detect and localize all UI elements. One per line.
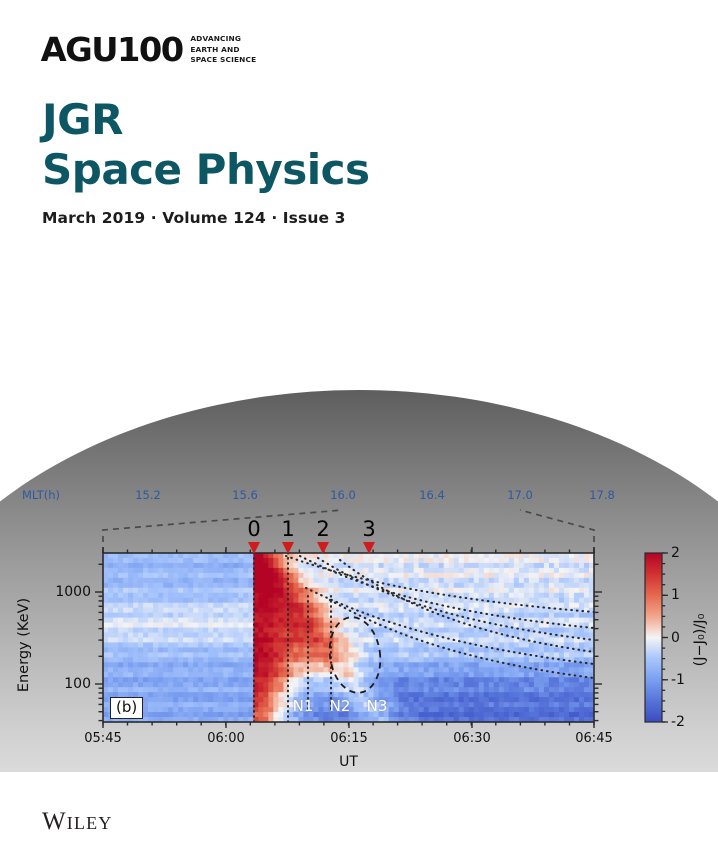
x-tick-label-1: 06:00: [207, 731, 244, 746]
event-number-2: 2: [316, 517, 329, 541]
agu-tagline-line-1: ADVANCING: [190, 34, 256, 45]
colorbar-tick-label-0: 2: [671, 545, 680, 561]
cover-art-background: [0, 382, 718, 772]
colorbar-label: (J−J₀)/J₀: [692, 614, 708, 667]
y-tick-label-0: 1000: [55, 584, 91, 600]
colorbar-tick-label-2: 0: [671, 630, 680, 646]
wiley-logo: Wiley: [42, 808, 113, 836]
event-number-0: 0: [247, 517, 260, 541]
mlt-tick-0: 15.2: [135, 488, 161, 502]
event-number-1: 1: [281, 517, 294, 541]
agu-tagline: ADVANCING EARTH AND SPACE SCIENCE: [190, 34, 256, 66]
injection-label-N1: N1: [293, 697, 314, 715]
mlt-tick-3: 16.4: [419, 488, 445, 502]
x-tick-label-2: 06:15: [330, 731, 367, 746]
colorbar-tick-label-3: -1: [671, 672, 685, 688]
event-number-3: 3: [362, 517, 375, 541]
x-tick-label-0: 05:45: [84, 731, 121, 746]
x-tick-label-3: 06:30: [453, 731, 490, 746]
gradient-dome: [0, 390, 718, 772]
injection-label-N2: N2: [330, 697, 351, 715]
agu-tagline-line-3: SPACE SCIENCE: [190, 55, 256, 66]
x-axis-label: UT: [339, 754, 358, 770]
colorbar-tick-label-4: -2: [671, 714, 685, 730]
panel-label: (b): [110, 697, 143, 719]
mlt-tick-1: 15.6: [232, 488, 258, 502]
agu-tagline-line-2: EARTH AND: [190, 45, 256, 56]
x-tick-label-4: 06:45: [575, 731, 612, 746]
agu-wordmark: AGU100: [41, 33, 183, 66]
mlt-tick-4: 17.0: [507, 488, 533, 502]
injection-label-N3: N3: [367, 697, 388, 715]
journal-subject: Space Physics: [42, 146, 370, 193]
journal-title-block: JGR Space Physics March 2019 · Volume 12…: [42, 98, 370, 227]
agu-logo: AGU100 ADVANCING EARTH AND SPACE SCIENCE: [42, 33, 256, 66]
journal-abbrev: JGR: [42, 98, 370, 142]
colorbar-tick-label-1: 1: [671, 587, 680, 603]
journal-issue-line: March 2019 · Volume 124 · Issue 3: [42, 209, 370, 227]
mlt-tick-5: 17.8: [589, 488, 615, 502]
y-axis-label: Energy (KeV): [16, 598, 32, 692]
mlt-axis-title: MLT(h): [22, 488, 60, 502]
mlt-axis: MLT(h) 15.215.616.016.417.017.8: [0, 488, 718, 506]
mlt-tick-2: 16.0: [330, 488, 356, 502]
y-tick-label-1: 100: [64, 676, 91, 692]
